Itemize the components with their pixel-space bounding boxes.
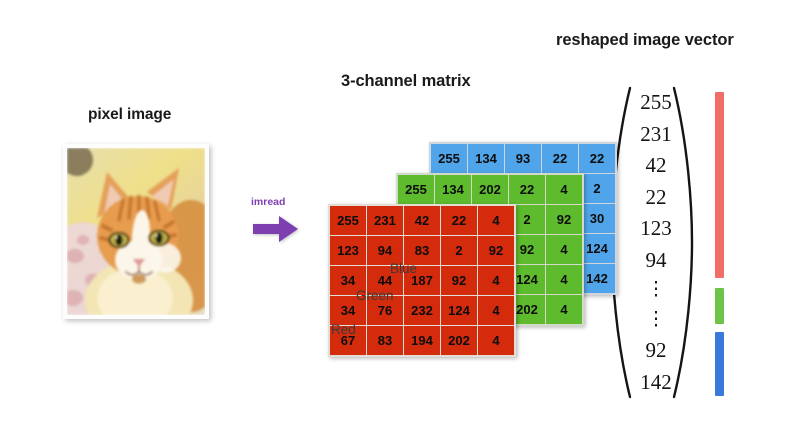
matrix-cell: 255 [431,144,467,173]
matrix-cell: 134 [468,144,504,173]
matrix-cell: 194 [404,326,440,355]
vector-value: 255 [640,91,672,113]
matrix-cell: 202 [472,175,508,204]
pixel-image-title: pixel image [88,106,171,124]
matrix-cell: 231 [367,206,403,235]
pixel-image-photo-frame [63,144,209,319]
matrix-cell: 22 [441,206,477,235]
channel-color-strips [715,92,727,396]
matrix-cell: 124 [579,234,615,263]
vector-title: reshaped image vector [556,31,734,50]
blue-channel-strip [715,332,724,396]
vector-value: 22 [646,186,667,208]
three-channel-matrix: 2551349322221342022222422243030832921241… [328,142,528,367]
matrix-cell: 4 [478,206,514,235]
vector-value: 42 [646,154,667,176]
matrix-cell: 22 [579,144,615,173]
matrix-cell: 4 [478,296,514,325]
cat-photo [67,148,205,315]
imread-arrow-group: imread [251,196,301,250]
matrix-cell: 22 [509,175,545,204]
matrix-cell: 4 [478,326,514,355]
vector-bracket-right-icon [670,85,696,400]
matrix-layer-red: 2552314222412394832923444187924347623212… [328,204,516,357]
channel-label-blue: Blue [390,261,417,276]
matrix-cell: 42 [404,206,440,235]
vector-value: 142 [640,371,672,393]
right-arrow-icon [251,213,301,245]
vector-value: 92 [646,339,667,361]
matrix-cell: 2 [579,174,615,203]
channel-label-green: Green [356,288,394,303]
matrix-title: 3-channel matrix [341,72,471,91]
matrix-cell: 92 [441,266,477,295]
vector-ellipsis: ⋮ [647,280,666,300]
channel-label-red: Red [331,322,356,337]
matrix-cell: 232 [404,296,440,325]
red-channel-strip [715,92,724,278]
matrix-cell: 30 [579,204,615,233]
matrix-cell: 134 [435,175,471,204]
matrix-cell: 4 [546,295,582,324]
matrix-cell: 92 [546,205,582,234]
matrix-cell: 255 [330,206,366,235]
matrix-cell: 93 [505,144,541,173]
matrix-cell: 202 [441,326,477,355]
matrix-cell: 22 [542,144,578,173]
vector-value: 231 [640,123,672,145]
matrix-cell: 2 [441,236,477,265]
vector-value: 94 [646,249,667,271]
vector-value: 123 [640,217,672,239]
matrix-cell: 4 [546,265,582,294]
imread-arrow-label-line1: imread [251,196,301,209]
vector-ellipsis: ⋮ [647,310,666,330]
matrix-cell: 255 [398,175,434,204]
matrix-cell: 4 [478,266,514,295]
matrix-cell: 123 [330,236,366,265]
matrix-cell: 4 [546,175,582,204]
matrix-cell: 92 [478,236,514,265]
diagram-canvas: pixel image 3-channel matrix reshaped im… [0,0,798,424]
matrix-cell: 83 [367,326,403,355]
green-channel-strip [715,288,724,324]
matrix-cell: 142 [579,264,615,293]
reshaped-image-vector: 255231422212394⋮⋮92142 [608,85,704,400]
matrix-cell: 124 [441,296,477,325]
matrix-cell: 4 [546,235,582,264]
